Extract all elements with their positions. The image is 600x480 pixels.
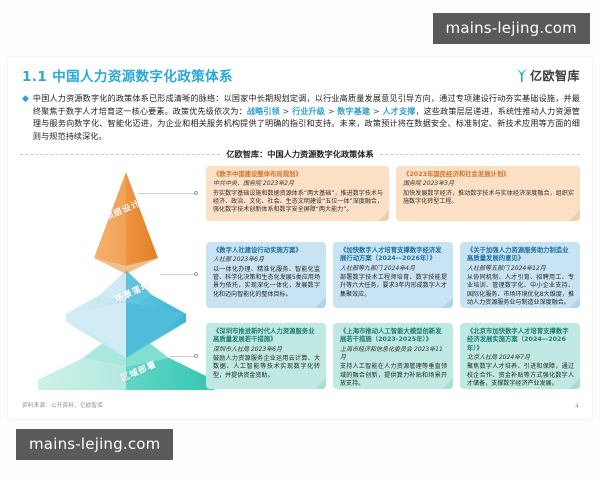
band-rule-right	[380, 154, 580, 155]
card-fold-corner	[442, 297, 453, 308]
policy-card[interactable]: 《关于加强人力资源服务助力制造业高质量发展的意见》 人社部等五部门 2024年1…	[460, 242, 580, 308]
card-body: 部署数字技术工程师培育、数字技能提升等六大任务，要求3年内形成数字人才集聚效应。	[340, 274, 447, 299]
keyword-separator-1: >	[280, 106, 292, 116]
card-body: 夯实数字基础设施和数据资源体系“两大基础”，推进数字技术与经济、政治、文化、社会…	[213, 190, 383, 215]
card-body: 以一体化办理、精准化服务、智能化监管、科学化决策和生态化发展5类应用场景为依托，…	[213, 266, 320, 300]
source-note: 资料来源：公开资料、亿欧智库	[22, 401, 103, 409]
card-fold-corner	[442, 378, 453, 389]
policy-card[interactable]: 《数字中国建设整体布局规划》 中共中央、国务院 2023年2月 夯实数字基础设施…	[206, 166, 389, 221]
card-title: 《北京市加快数字人才培育支撑数字经济发展实施方案（2024—2026年）》	[467, 328, 574, 353]
policy-diagram: 顶层设计 场景落地 区域部署 《数字中国建设整体布局规划》 中共中央、国务院 2…	[20, 160, 580, 391]
policy-row-middle: 《数字人社建设行动实施方案》 人社部 2023年6月 以一体化办理、精准化服务、…	[206, 242, 580, 308]
card-title: 《上海市推动人工智能大模型创新发展若干措施（2023-2025年）》	[340, 328, 447, 345]
logo-mark-icon	[515, 68, 528, 83]
keyword-4: 人才支撑	[383, 106, 416, 116]
slide-header: 1.1 中国人力资源数字化政策体系 亿欧智库	[22, 65, 582, 91]
card-body: 聚焦数字人才培养、引进和保障，通过校企合作、资金补贴等方式强化数字人才储备，支撑…	[467, 363, 574, 388]
bullet-icon: ◆	[22, 92, 29, 142]
card-title: 《2023年国民经济和社会发展计划》	[403, 171, 574, 179]
card-body: 鼓励人力资源服务企业运用云计算、大数据、人工智能等技术实现数字化转型，并提供资金…	[213, 355, 320, 380]
policy-card[interactable]: 《加快数字人才培育支撑数字经济发展行动方案（2024—2026年）》 人社部等九…	[333, 242, 453, 308]
card-body: 加快发展数字经济，推动数字技术与实体经济深度融合，组织实施数字化转型工程。	[403, 190, 574, 207]
card-meta: 人社部 2023年6月	[213, 256, 320, 264]
policy-card[interactable]: 《北京市加快数字人才培育支撑数字经济发展实施方案（2024—2026年）》 北京…	[460, 323, 580, 389]
page-title: 1.1 中国人力资源数字化政策体系	[22, 65, 582, 85]
connector-dot-2	[194, 272, 198, 276]
policy-card[interactable]: 《2023年国民经济和社会发展计划》 国务院 2023年3月 加快发展数字经济，…	[396, 166, 580, 221]
intro-paragraph: 中国人力资源数字化的政策体系已形成清晰的脉络：以国家中长期规划定调，以行业高质量…	[33, 92, 580, 142]
card-fold-corner	[378, 210, 389, 221]
watermark-bottom: mains-lejing.com	[16, 429, 173, 460]
keyword-2: 行业升级	[292, 106, 325, 116]
card-title: 《关于加强人力资源服务助力制造业高质量发展的意见》	[467, 247, 574, 264]
card-body: 支持人工智能在人力资源管理等垂直领域的融合创新，提供算力补贴和场景开放支持。	[340, 363, 447, 388]
card-title: 《数字中国建设整体布局规划》	[213, 171, 383, 179]
connector-line-1	[138, 193, 196, 194]
page-number: 4	[575, 403, 579, 410]
keyword-3: 数字基建	[337, 106, 370, 116]
slide-page: mains-lejing.com 1.1 中国人力资源数字化政策体系 亿欧智库 …	[0, 0, 600, 480]
card-title: 《加快数字人才培育支撑数字经济发展行动方案（2024—2026年）》	[340, 247, 447, 264]
connector-dot-3	[194, 354, 198, 358]
pyramid-top-left	[94, 172, 126, 266]
card-body: 从协同机制、人才引育、招聘用工、专业培训、管理数字化、中小企业支持、国际化服务、…	[467, 274, 574, 308]
card-title: 《深圳市推进新时代人力资源服务业高质量发展若干措施》	[213, 328, 320, 345]
card-meta: 国务院 2023年3月	[403, 180, 574, 188]
policy-row-top: 《数字中国建设整体布局规划》 中共中央、国务院 2023年2月 夯实数字基础设施…	[206, 166, 580, 221]
keyword-1: 战略引领	[247, 106, 280, 116]
policy-card[interactable]: 《深圳市推进新时代人力资源服务业高质量发展若干措施》 深圳市人社局 2023年6…	[206, 323, 326, 389]
keyword-separator-3: >	[370, 106, 382, 116]
watermark-top: mains-lejing.com	[433, 13, 590, 44]
card-title: 《数字人社建设行动实施方案》	[213, 247, 320, 255]
card-meta: 北京人社局 2024年7月	[467, 354, 574, 362]
card-fold-corner	[569, 210, 580, 221]
intro-block: ◆ 中国人力资源数字化的政策体系已形成清晰的脉络：以国家中长期规划定调，以行业高…	[22, 92, 580, 142]
slide-body: 1.1 中国人力资源数字化政策体系 亿欧智库 ◆ 中国人力资源数字化的政策体系已…	[8, 57, 592, 419]
band-rule-left	[20, 154, 220, 155]
card-meta: 上海市经济和信息化委员会 2023年11月	[340, 346, 447, 362]
connector-line-3	[170, 356, 196, 357]
logo-text: 亿欧智库	[530, 67, 580, 84]
card-meta: 人社部等九部门 2024年4月	[340, 265, 447, 273]
policy-card[interactable]: 《上海市推动人工智能大模型创新发展若干措施（2023-2025年）》 上海市经济…	[333, 323, 453, 389]
keyword-separator-2: >	[325, 106, 337, 116]
card-meta: 人社部等五部门 2024年12月	[467, 265, 574, 273]
pyramid-top-right	[126, 172, 158, 266]
card-meta: 深圳市人社局 2023年6月	[213, 346, 320, 354]
chart-band: 亿欧智库：中国人力资源数字化政策体系	[20, 148, 580, 160]
card-fold-corner	[315, 297, 326, 308]
connector-line-2	[160, 274, 196, 275]
policy-card[interactable]: 《数字人社建设行动实施方案》 人社部 2023年6月 以一体化办理、精准化服务、…	[206, 242, 326, 308]
card-fold-corner	[569, 297, 580, 308]
connector-dot-1	[194, 191, 198, 195]
policy-row-bottom: 《深圳市推进新时代人力资源服务业高质量发展若干措施》 深圳市人社局 2023年6…	[206, 323, 580, 389]
card-meta: 中共中央、国务院 2023年2月	[213, 180, 383, 188]
brand-logo: 亿欧智库	[515, 67, 580, 84]
card-fold-corner	[569, 378, 580, 389]
card-fold-corner	[315, 378, 326, 389]
chart-title: 亿欧智库：中国人力资源数字化政策体系	[226, 148, 373, 160]
